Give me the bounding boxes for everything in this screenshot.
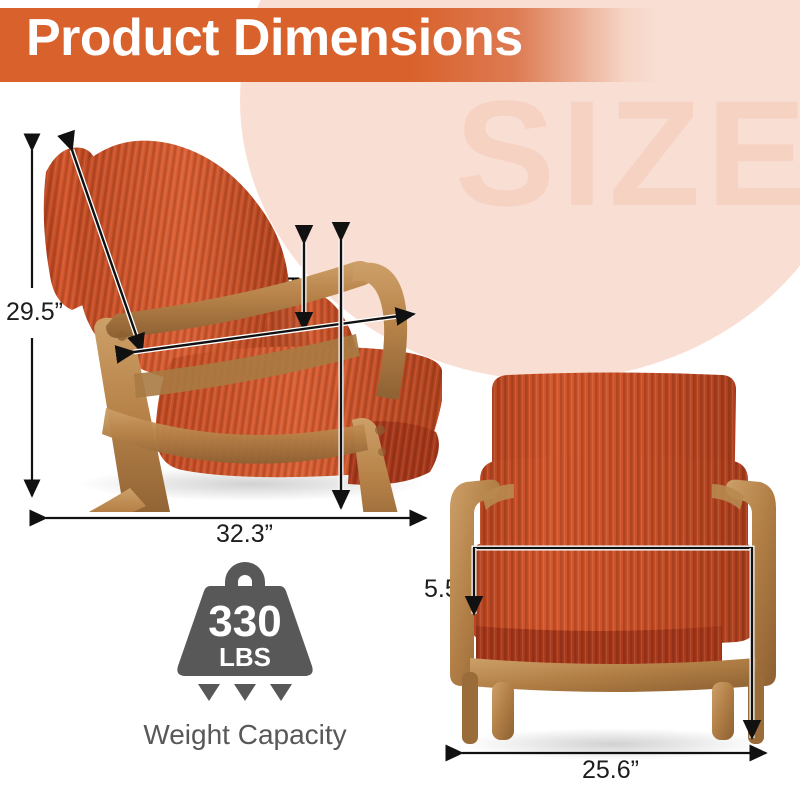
chair-front-view-image xyxy=(448,372,778,772)
infographic-canvas: SIZE Product Dimensions xyxy=(0,0,800,800)
weight-capacity-block: 330 LBS Weight Capacity xyxy=(110,556,380,751)
down-arrow-icon-1 xyxy=(198,684,220,701)
size-watermark: SIZE xyxy=(455,78,800,228)
down-arrow-icon-2 xyxy=(234,684,256,701)
page-title: Product Dimensions xyxy=(26,12,523,64)
weight-icon: 330 LBS xyxy=(150,556,340,706)
weight-unit-text: LBS xyxy=(219,642,271,672)
label-overall-depth: 32.3” xyxy=(216,522,273,547)
weight-capacity-caption: Weight Capacity xyxy=(110,719,380,751)
down-arrow-icon-3 xyxy=(270,684,292,701)
weight-value-text: 330 xyxy=(208,597,281,646)
chair-side-view-image xyxy=(42,132,442,512)
